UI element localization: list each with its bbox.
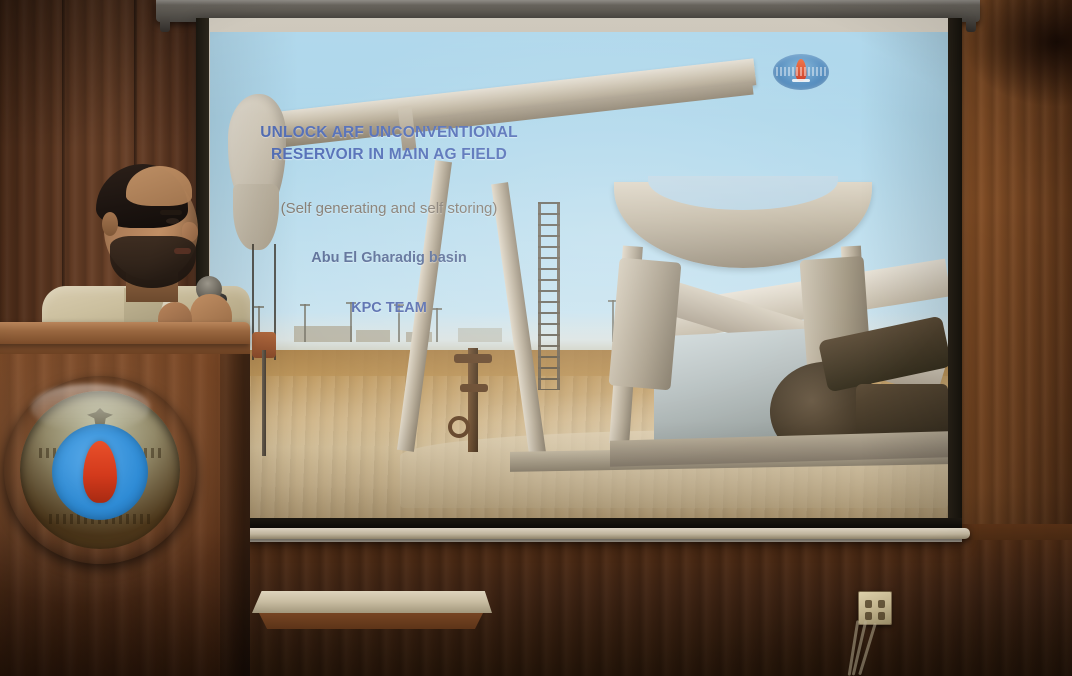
projected-slide: UNLOCK ARF UNCONVENTIONAL RESERVOIR IN M…: [210, 32, 948, 518]
wall-ledge: [252, 591, 492, 629]
podium: [0, 322, 250, 676]
screen-housing-bracket: [160, 16, 170, 32]
presentation-photo-scene: UNLOCK ARF UNCONVENTIONAL RESERVOIR IN M…: [0, 0, 1072, 676]
presenter-eyebrow: [160, 210, 182, 215]
outlet-socket[interactable]: [865, 600, 872, 608]
flame-icon: [83, 441, 117, 503]
outlet-socket[interactable]: [878, 612, 885, 620]
screen-bottom-border: [196, 518, 962, 528]
presenter-ear: [102, 212, 118, 236]
podium-emblem: [4, 376, 196, 564]
presenter-mouth: [174, 248, 191, 254]
emblem-highlight: [31, 384, 150, 433]
screen-housing-bracket: [966, 16, 976, 32]
presenter-beard: [110, 236, 196, 288]
slide-text-block: UNLOCK ARF UNCONVENTIONAL RESERVOIR IN M…: [210, 32, 948, 518]
presenter-eye: [166, 218, 179, 224]
outlet-socket[interactable]: [878, 600, 885, 608]
screen-weight-bar: [200, 528, 970, 539]
outlet-socket[interactable]: [865, 612, 872, 620]
wall-ledge-apron: [258, 611, 484, 629]
screen-frame-right-edge: [948, 18, 962, 530]
podium-top-surface: [0, 322, 250, 344]
emblem-blue-disc: [52, 424, 148, 520]
wall-ledge-top: [252, 591, 492, 613]
podium-side-shadow: [220, 353, 250, 676]
slide-title-line1: UNLOCK ARF UNCONVENTIONAL: [224, 122, 554, 144]
wall-outlet-plate[interactable]: [858, 591, 892, 625]
